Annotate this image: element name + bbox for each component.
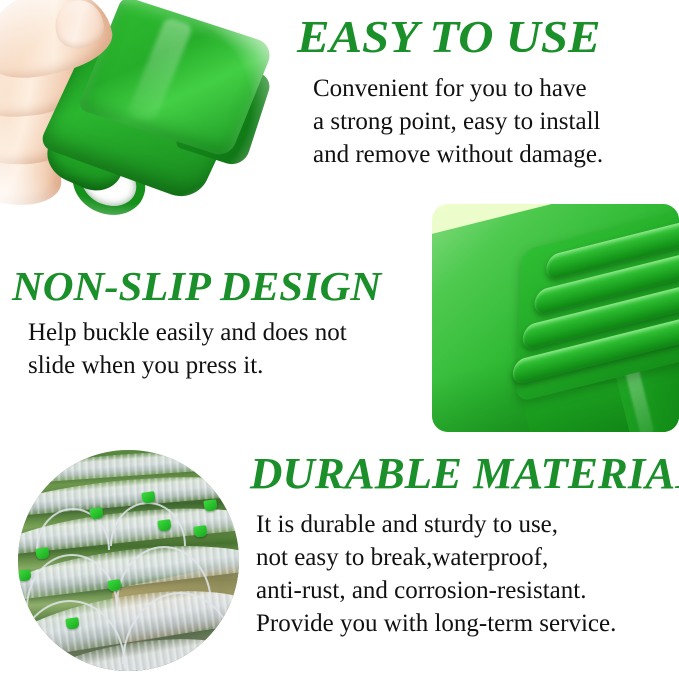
feature-body-line: Help buckle easily and does not	[28, 316, 347, 349]
photo-non-slip-grip-detail	[432, 204, 679, 432]
photo-circle-shading	[18, 450, 239, 671]
feature-body-line: not easy to break,waterproof,	[256, 541, 616, 574]
feature-body-durable-material: It is durable and sturdy to use, not eas…	[256, 508, 616, 640]
feature-body-non-slip-design: Help buckle easily and does not slide wh…	[28, 316, 347, 382]
feature-body-line: It is durable and sturdy to use,	[256, 508, 616, 541]
feature-body-line: anti-rust, and corrosion-resistant.	[256, 574, 616, 607]
feature-body-line: Convenient for you to have	[313, 72, 603, 105]
photo-white-vignette	[0, 0, 282, 218]
feature-body-line: Provide you with long-term service.	[256, 607, 616, 640]
feature-body-line: and remove without damage.	[313, 138, 603, 171]
feature-heading-non-slip-design: NON-SLIP DESIGN	[12, 266, 381, 307]
feature-body-line: slide when you press it.	[28, 349, 347, 382]
product-feature-infographic: EASY TO USE Convenient for you to have a…	[0, 0, 679, 684]
photo-hand-holding-clip	[0, 0, 282, 218]
feature-heading-easy-to-use: EASY TO USE	[297, 14, 600, 60]
feature-heading-durable-material: DURABLE MATERIAL	[250, 452, 679, 496]
feature-body-line: a strong point, easy to install	[313, 105, 603, 138]
feature-body-easy-to-use: Convenient for you to have a strong poin…	[313, 72, 603, 171]
photo-field-row-covers	[18, 450, 239, 671]
